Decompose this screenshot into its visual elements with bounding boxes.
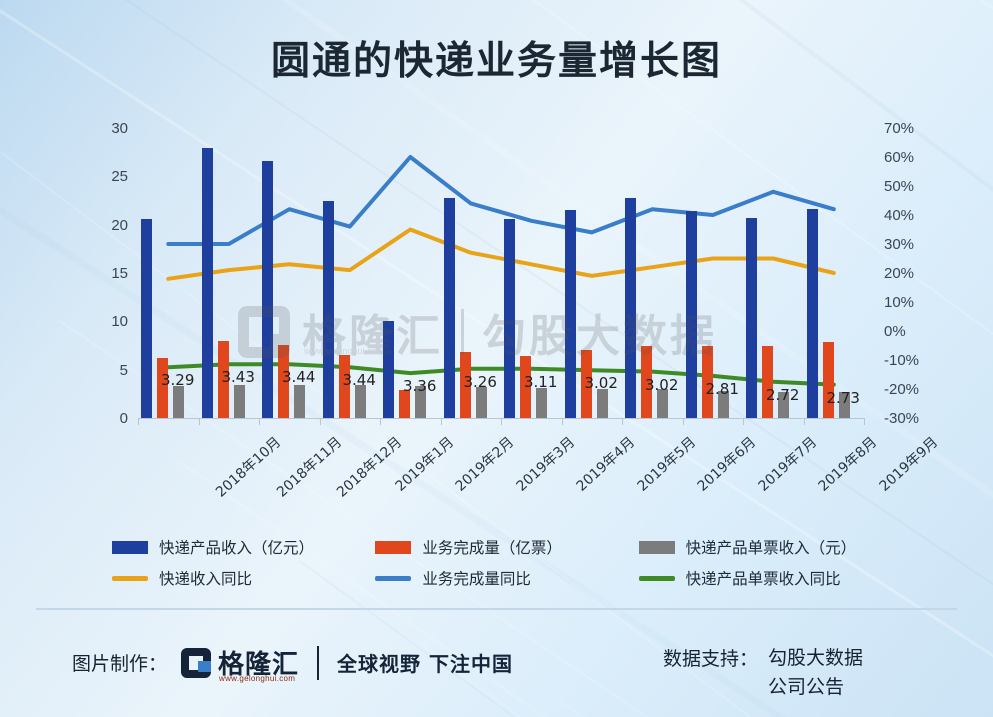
data-label: 3.43 xyxy=(222,368,255,386)
data-label: 3.02 xyxy=(585,374,618,392)
data-label: 3.36 xyxy=(403,377,436,395)
legend-label: 快递产品收入（亿元） xyxy=(159,536,314,558)
legend-swatch-line xyxy=(639,576,675,581)
bar-express-revenue[interactable] xyxy=(323,201,334,419)
x-axis-tickmark xyxy=(320,418,321,425)
footer-source: 数据支持： 勾股大数据 公司公告 xyxy=(663,644,863,703)
right-axis-tick: 20% xyxy=(884,266,914,281)
legend-label: 快递产品单票收入同比 xyxy=(686,567,841,589)
right-axis-tick: 60% xyxy=(884,150,914,165)
legend-row-lines: 快递收入同比 业务完成量同比 快递产品单票收入同比 xyxy=(112,567,902,589)
source-label: 数据支持： xyxy=(663,644,758,703)
chart-legend: 快递产品收入（亿元） 业务完成量（亿票） 快递产品单票收入（元） 快递收入同比 … xyxy=(112,536,902,598)
source-values: 勾股大数据 公司公告 xyxy=(768,644,863,703)
x-axis-tickmark xyxy=(501,418,502,425)
x-axis-tickmark xyxy=(743,418,744,425)
legend-item-parcel-volume[interactable]: 业务完成量（亿票） xyxy=(375,536,638,558)
right-axis-tick: 50% xyxy=(884,179,914,194)
bar-group xyxy=(683,128,744,418)
legend-label: 业务完成量（亿票） xyxy=(422,536,562,558)
bar-express-revenue[interactable] xyxy=(686,211,697,418)
logo-g-icon xyxy=(181,648,211,678)
left-axis-tick: 5 xyxy=(120,363,128,378)
legend-swatch-line xyxy=(375,576,411,581)
footer: 图片制作： 格隆汇 www.gelonghui.com 全球视野 下注中国 数据… xyxy=(0,628,993,708)
data-label: 3.29 xyxy=(161,371,194,389)
right-axis-tick: 10% xyxy=(884,295,914,310)
left-axis-tick: 15 xyxy=(111,266,128,281)
data-label: 3.02 xyxy=(645,376,678,394)
left-axis-tick: 30 xyxy=(111,121,128,136)
right-axis-tick: 0% xyxy=(884,324,906,339)
footer-vertical-divider xyxy=(317,646,319,680)
legend-label: 快递收入同比 xyxy=(159,567,252,589)
bar-group xyxy=(804,128,865,418)
data-label: 3.11 xyxy=(524,373,557,391)
footer-divider xyxy=(36,608,957,610)
bar-group xyxy=(743,128,804,418)
left-axis-tick: 10 xyxy=(111,314,128,329)
gelonghui-logo: 格隆汇 www.gelonghui.com xyxy=(181,644,299,681)
bar-express-revenue[interactable] xyxy=(807,209,818,418)
footer-slogan: 全球视野 下注中国 xyxy=(337,648,513,677)
bar-express-revenue[interactable] xyxy=(444,198,455,418)
right-axis-tick: 30% xyxy=(884,237,914,252)
bar-unit-revenue[interactable] xyxy=(234,385,245,418)
legend-item-unit-revenue-yoy[interactable]: 快递产品单票收入同比 xyxy=(639,567,902,589)
legend-item-express-revenue[interactable]: 快递产品收入（亿元） xyxy=(112,536,375,558)
chart-title: 圆通的快递业务量增长图 xyxy=(0,30,993,86)
x-axis-tickmark xyxy=(622,418,623,425)
data-label: 2.81 xyxy=(706,380,739,398)
left-axis-tick: 25 xyxy=(111,169,128,184)
legend-swatch-line xyxy=(112,576,148,581)
x-axis-tickmark xyxy=(804,418,805,425)
bar-group xyxy=(622,128,683,418)
right-axis-tick: 70% xyxy=(884,121,914,136)
bar-group xyxy=(380,128,441,418)
right-axis-tick: -30% xyxy=(884,411,919,426)
bar-express-revenue[interactable] xyxy=(504,219,515,418)
legend-swatch-bar xyxy=(112,541,148,554)
left-axis-tick: 20 xyxy=(111,218,128,233)
left-axis: 302520151050 xyxy=(78,128,134,418)
footer-credit: 图片制作： 格隆汇 www.gelonghui.com 全球视野 下注中国 xyxy=(72,644,513,681)
legend-label: 快递产品单票收入（元） xyxy=(686,536,857,558)
legend-row-bars: 快递产品收入（亿元） 业务完成量（亿票） 快递产品单票收入（元） xyxy=(112,536,902,558)
x-axis-tickmark xyxy=(380,418,381,425)
right-axis-tick: -10% xyxy=(884,353,919,368)
bar-express-revenue[interactable] xyxy=(262,161,273,418)
right-axis-tick: 40% xyxy=(884,208,914,223)
x-axis-tickmark xyxy=(199,418,200,425)
plot-area: 3.293.433.443.443.363.263.113.023.022.81… xyxy=(138,128,864,418)
x-axis-tickmark xyxy=(441,418,442,425)
bar-express-revenue[interactable] xyxy=(625,198,636,418)
bar-express-revenue[interactable] xyxy=(383,321,394,418)
bar-parcel-volume[interactable] xyxy=(762,346,773,419)
data-label: 3.44 xyxy=(282,368,315,386)
data-label: 2.73 xyxy=(827,389,860,407)
x-axis-tickmark xyxy=(864,418,865,425)
bar-unit-revenue[interactable] xyxy=(536,388,547,418)
legend-item-unit-revenue[interactable]: 快递产品单票收入（元） xyxy=(639,536,902,558)
legend-item-volume-yoy[interactable]: 业务完成量同比 xyxy=(375,567,638,589)
bar-unit-revenue[interactable] xyxy=(173,386,184,418)
bar-unit-revenue[interactable] xyxy=(294,385,305,418)
data-label: 3.44 xyxy=(343,371,376,389)
legend-label: 业务完成量同比 xyxy=(422,567,531,589)
right-axis: 70%60%50%40%30%20%10%0%-10%-20%-30% xyxy=(880,128,950,418)
source-item: 公司公告 xyxy=(768,673,863,702)
legend-item-revenue-yoy[interactable]: 快递收入同比 xyxy=(112,567,375,589)
right-axis-tick: -20% xyxy=(884,382,919,397)
data-label: 2.72 xyxy=(766,386,799,404)
credit-label: 图片制作： xyxy=(72,649,167,676)
bar-express-revenue[interactable] xyxy=(746,218,757,418)
logo-url: www.gelonghui.com xyxy=(219,674,295,683)
x-axis-tickmark xyxy=(683,418,684,425)
x-axis-tickmark xyxy=(138,418,139,425)
x-axis-tickmark xyxy=(562,418,563,425)
bar-express-revenue[interactable] xyxy=(202,148,213,418)
left-axis-tick: 0 xyxy=(120,411,128,426)
data-label: 3.26 xyxy=(464,373,497,391)
bar-unit-revenue[interactable] xyxy=(476,387,487,419)
bar-express-revenue[interactable] xyxy=(141,219,152,418)
x-axis-tickmark xyxy=(259,418,260,425)
legend-swatch-bar xyxy=(639,541,675,554)
source-item: 勾股大数据 xyxy=(768,644,863,673)
bar-unit-revenue[interactable] xyxy=(597,389,608,418)
bar-unit-revenue[interactable] xyxy=(355,385,366,418)
bar-express-revenue[interactable] xyxy=(565,210,576,418)
legend-swatch-bar xyxy=(375,541,411,554)
